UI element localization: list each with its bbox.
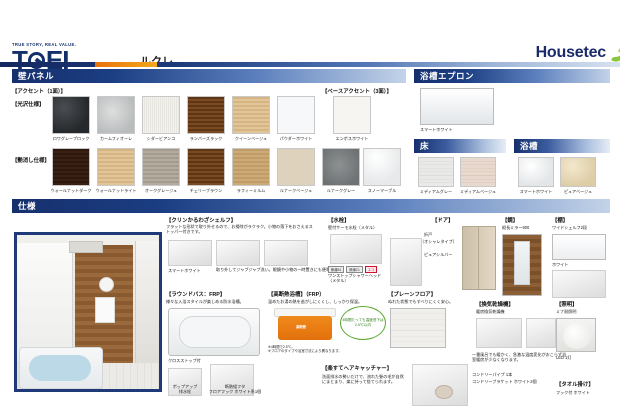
swatch-bathtub-1[interactable] bbox=[560, 157, 596, 187]
swatch-gloss-2[interactable] bbox=[142, 96, 180, 134]
housetec-wordmark: Housetec bbox=[536, 44, 606, 62]
section-title-wall-panel: 壁パネル bbox=[18, 70, 54, 82]
drain-caption: ポップアップ 排水栓 bbox=[160, 384, 210, 394]
ventilator-note-2: コンドリーブラケット ホワイト2個 bbox=[472, 379, 537, 384]
swatch-matte-3[interactable] bbox=[187, 148, 225, 186]
door-title: 【ドア】 bbox=[432, 216, 454, 224]
swatch-matte-1[interactable] bbox=[97, 148, 135, 186]
lighting-item-1: ミナ耐照明 bbox=[556, 309, 576, 314]
swatch-matte-7[interactable] bbox=[363, 148, 401, 186]
faucet-title: 【水栓】 bbox=[328, 216, 350, 224]
shelf-wide-photo-2 bbox=[552, 270, 606, 298]
mirror-item-1: 縦長ミラー900 bbox=[502, 225, 529, 230]
ventilator-title: 【換気乾燥機】 bbox=[476, 300, 514, 308]
faucet-item-2: ワンストップシャワーヘッド（メタル） bbox=[328, 273, 386, 284]
swatch-caption-matte-7: スノーマーブル bbox=[351, 188, 413, 193]
insulation-callout: 4時間たっても温度低下は2.5℃以内 bbox=[340, 306, 386, 340]
lid-caption: 断熱組フタ フロアフック ホワイト系1個 bbox=[204, 384, 266, 394]
swatch-gloss-4[interactable] bbox=[232, 96, 270, 134]
shelf-caption-sub: 取り外してジャブジャブ洗い。眼鏡や小物の一時置きにも便利です。 bbox=[216, 267, 312, 272]
ventilator-desc: 一番風呂でも暖かく、急激な温度変化がおこらず浴室暖房が少なくなります。 bbox=[472, 352, 568, 363]
faucet-badges: 節湯B1 節湯C1 エコ bbox=[328, 266, 377, 273]
insulated-tub-tag: 高断熱 bbox=[296, 324, 306, 329]
faucet-badge-0: 節湯B1 bbox=[328, 266, 344, 273]
hair-catcher-photo bbox=[412, 364, 468, 406]
shelf-photo-0 bbox=[168, 240, 212, 266]
faucet-badge-2: エコ bbox=[365, 266, 377, 273]
swatch-gloss-5[interactable] bbox=[277, 96, 315, 134]
section-title-bathtub: 浴槽 bbox=[520, 140, 538, 152]
shelf-caption-main: スマートホワイト bbox=[168, 268, 201, 273]
swatch-matte-6[interactable] bbox=[322, 148, 360, 186]
section-header-tub-apron: 浴槽エプロン bbox=[414, 69, 610, 83]
round-bath-caption: クロスストップ付 bbox=[168, 358, 201, 363]
faucet-item-1: 壁付サーモ水栓（メタル） bbox=[328, 225, 377, 230]
shelf-wide-item-1: ワイドシェルフ2段 bbox=[552, 225, 587, 230]
round-bath-photo bbox=[168, 308, 260, 356]
base-accent-label: 【ベースアクセント（3面）】 bbox=[322, 87, 392, 95]
header-gradient-bar bbox=[0, 62, 620, 67]
section-title-spec: 仕様 bbox=[18, 200, 36, 212]
door-item-1: 折戸 bbox=[424, 232, 432, 237]
swatch-gloss-1[interactable] bbox=[97, 96, 135, 134]
section-title-floor: 床 bbox=[420, 140, 429, 152]
faucet-badge-1: 節湯C1 bbox=[346, 266, 362, 273]
swatch-floor-0[interactable] bbox=[418, 157, 454, 187]
insulated-bath-title: 【高断熱浴槽】（FRP） bbox=[268, 290, 325, 298]
lighting-title: 【照明】 bbox=[556, 300, 578, 308]
header-orange-accent bbox=[95, 62, 157, 67]
ventilator-remote-photo bbox=[526, 318, 556, 348]
shelf-photo-2 bbox=[264, 240, 308, 266]
lighting-caption: LED 1灯 bbox=[556, 355, 571, 360]
hair-catcher-title: 【楽すてヘアキャッチャー】 bbox=[322, 364, 392, 372]
swatch-matte-2[interactable] bbox=[142, 148, 180, 186]
swatch-gloss-3[interactable] bbox=[187, 96, 225, 134]
swatch-floor-1[interactable] bbox=[460, 157, 496, 187]
swatch-matte-5[interactable] bbox=[277, 148, 315, 186]
plain-floor-title: 【プレーンフロア】 bbox=[388, 290, 436, 298]
door-item-2: （オシャレタイプ） bbox=[420, 239, 457, 244]
shelf-wide-photo bbox=[552, 234, 606, 260]
ventilator-photo bbox=[476, 318, 522, 348]
apron-photo bbox=[420, 88, 494, 125]
swatch-caption-gloss-base-0: エンボスホワイト bbox=[321, 136, 383, 141]
towel-bar-title: 【タオル掛け】 bbox=[556, 380, 594, 388]
section-header-bathtub: 浴槽 bbox=[514, 139, 610, 153]
floor-caption-1: ミディアムベージュ bbox=[452, 189, 504, 194]
shelf-desc: フラットな形状で取り外せるので、お掃除がラクラク。小物の落下をおさえるストッパー… bbox=[166, 224, 314, 235]
insulated-bath-desc: 温めたお湯の熱を逃がしにくくし、しっかり保温。 bbox=[268, 299, 386, 304]
round-bath-title: 【ラウンドバス：FRP】 bbox=[166, 290, 225, 298]
accent-label: 【アクセント（1面）】 bbox=[12, 87, 66, 95]
bathroom-interior-photo bbox=[14, 232, 162, 392]
faucet-photo bbox=[330, 234, 382, 264]
insulated-bath-photo: 高断熱 bbox=[274, 308, 336, 342]
section-title-tub-apron: 浴槽エプロン bbox=[420, 70, 474, 82]
swatch-gloss-0[interactable] bbox=[52, 96, 90, 134]
towel-bar-item-1: フック付 ホワイト bbox=[556, 390, 590, 395]
section-header-floor: 床 bbox=[414, 139, 506, 153]
matte-spec-label: 【艶消し仕様】 bbox=[12, 156, 50, 164]
plain-floor-desc: ぬれた状態でもすべりにくく安心。 bbox=[388, 299, 476, 304]
apron-caption-0: スマートホワイト bbox=[420, 127, 453, 132]
shelf-photo-1 bbox=[216, 240, 260, 266]
door-photo bbox=[462, 226, 496, 290]
section-header-spec: 仕様 bbox=[12, 199, 610, 213]
gloss-spec-label: 【光沢仕様】 bbox=[12, 100, 44, 108]
plain-floor-photo bbox=[390, 308, 446, 348]
insulated-bath-note: ※4時間で2.5℃。 ※フロアのタイプや浴室寸法により異なります。 bbox=[268, 345, 386, 354]
swatch-caption-gloss-5: パウダーホワイト bbox=[265, 136, 327, 141]
swatch-gloss-base-0[interactable] bbox=[333, 96, 371, 134]
ventilator-item-1: 暖房換気乾燥機 bbox=[476, 309, 505, 314]
showerhead-photo bbox=[390, 238, 422, 286]
swatch-matte-0[interactable] bbox=[52, 148, 90, 186]
swatch-matte-4[interactable] bbox=[232, 148, 270, 186]
page-header: TRUE STORY, REAL VALUE. T EI ルクレ Housete… bbox=[0, 20, 620, 60]
lighting-photo bbox=[556, 318, 596, 352]
mirror-title: 【鏡】 bbox=[502, 216, 518, 224]
shelf-wide-caption: ホワイト bbox=[552, 262, 568, 267]
shelf-wide-title: 【棚】 bbox=[552, 216, 568, 224]
mirror-photo bbox=[502, 234, 542, 296]
hair-catcher-desc: 洗面排水の勢いだけで、流れた髪の毛が自然にまとまり、楽に持って捨てられます。 bbox=[322, 374, 406, 385]
ventilator-note-1: コンドリーパイプ 1本 bbox=[472, 372, 512, 377]
section-header-wall-panel: 壁パネル bbox=[12, 69, 406, 83]
swatch-bathtub-0[interactable] bbox=[518, 157, 554, 187]
door-item-3: ピュアシルバー bbox=[424, 252, 452, 257]
bathtub-caption-1: ピュアベージュ bbox=[552, 189, 604, 194]
product-spec-sheet: TRUE STORY, REAL VALUE. T EI ルクレ Housete… bbox=[0, 0, 620, 409]
shelf-title: 【クリンかるわざシェルフ】 bbox=[166, 216, 236, 224]
